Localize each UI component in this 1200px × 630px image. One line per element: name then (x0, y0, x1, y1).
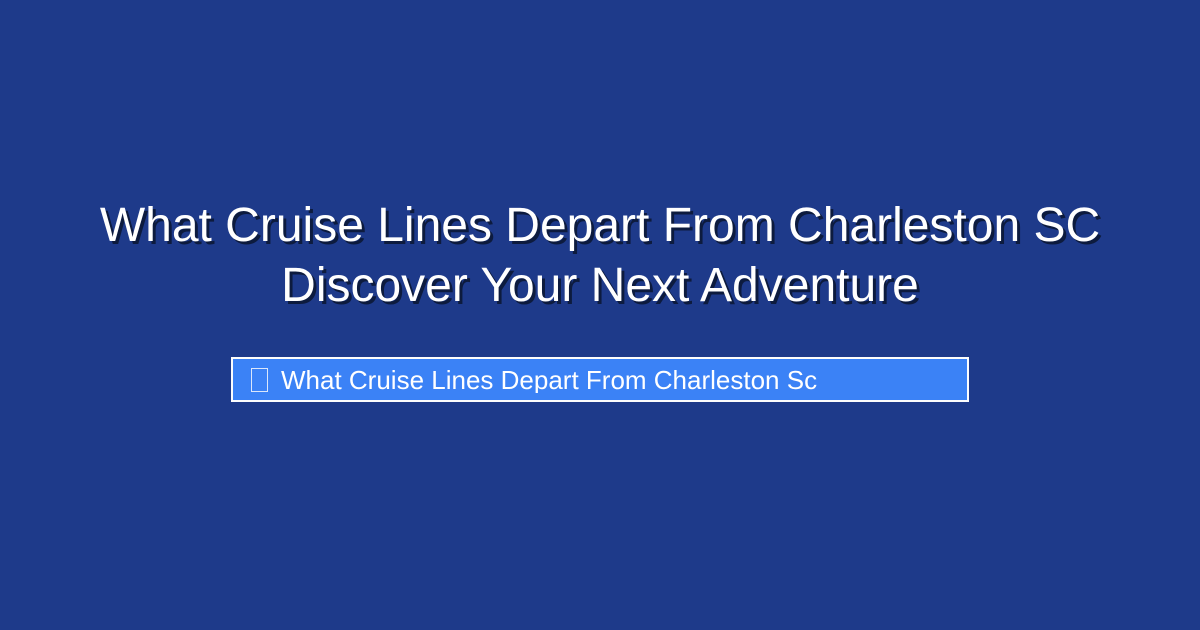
page-title: What Cruise Lines Depart From Charleston… (0, 196, 1200, 316)
headline-line-1: What Cruise Lines Depart From Charleston… (0, 196, 1200, 256)
cruise-lines-badge-button[interactable]: What Cruise Lines Depart From Charleston… (231, 357, 969, 402)
missing-glyph-box-icon (251, 368, 268, 392)
og-share-card: What Cruise Lines Depart From Charleston… (0, 0, 1200, 630)
badge-row: What Cruise Lines Depart From Charleston… (0, 357, 1200, 402)
headline-line-2: Discover Your Next Adventure (0, 256, 1200, 316)
headline: What Cruise Lines Depart From Charleston… (0, 196, 1200, 316)
badge-label: What Cruise Lines Depart From Charleston… (281, 367, 817, 393)
